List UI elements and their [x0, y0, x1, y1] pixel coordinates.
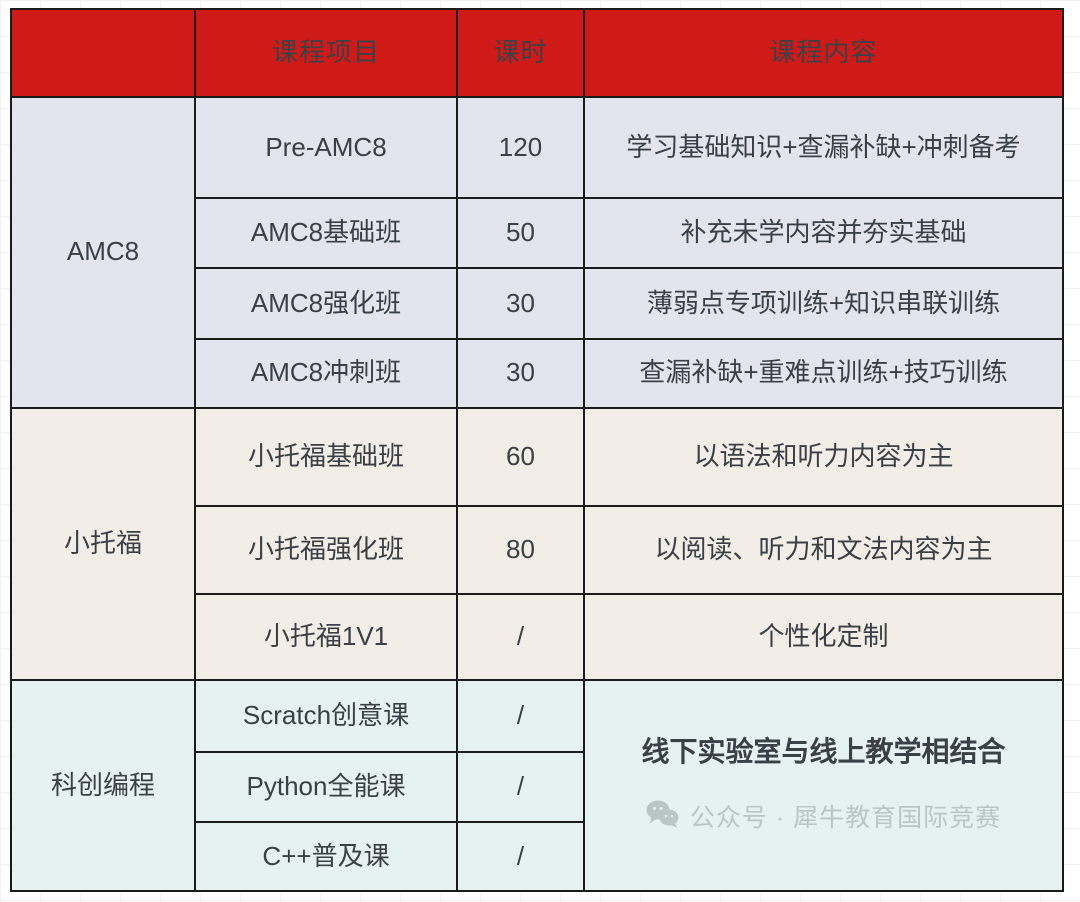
category-cell-toefl: 小托福	[11, 408, 195, 680]
content-stack: 线下实验室与线上教学相结合	[585, 681, 1062, 890]
hours-cell: 80	[457, 506, 584, 595]
course-schedule-table: 课程项目 课时 课程内容 AMC8 Pre-AMC8 120 学习基础知识+查漏…	[10, 8, 1064, 892]
table-body: AMC8 Pre-AMC8 120 学习基础知识+查漏补缺+冲刺备考 AMC8基…	[11, 97, 1063, 891]
content-cell: 查漏补缺+重难点训练+技巧训练	[584, 339, 1063, 408]
hours-cell: 120	[457, 97, 584, 198]
hours-cell: 30	[457, 339, 584, 408]
table-row: AMC8 Pre-AMC8 120 学习基础知识+查漏补缺+冲刺备考	[11, 97, 1063, 198]
hours-cell: 50	[457, 198, 584, 269]
hours-cell: 30	[457, 268, 584, 339]
content-cell: 以阅读、听力和文法内容为主	[584, 506, 1063, 595]
hours-cell: /	[457, 680, 584, 752]
program-cell: AMC8基础班	[195, 198, 457, 269]
hours-cell: /	[457, 594, 584, 680]
program-cell: 小托福强化班	[195, 506, 457, 595]
program-cell: 小托福1V1	[195, 594, 457, 680]
program-cell: Python全能课	[195, 752, 457, 823]
content-cell: 学习基础知识+查漏补缺+冲刺备考	[584, 97, 1063, 198]
category-cell-code: 科创编程	[11, 680, 195, 891]
program-cell: 小托福基础班	[195, 408, 457, 506]
hours-cell: 60	[457, 408, 584, 506]
table-header: 课程项目 课时 课程内容	[11, 9, 1063, 97]
table-row: 小托福 小托福基础班 60 以语法和听力内容为主	[11, 408, 1063, 506]
course-table-container: 课程项目 课时 课程内容 AMC8 Pre-AMC8 120 学习基础知识+查漏…	[10, 8, 1062, 892]
program-cell: Pre-AMC8	[195, 97, 457, 198]
program-cell: C++普及课	[195, 822, 457, 891]
content-cell: 以语法和听力内容为主	[584, 408, 1063, 506]
hours-cell: /	[457, 822, 584, 891]
content-cell: 薄弱点专项训练+知识串联训练	[584, 268, 1063, 339]
table-row: 科创编程 Scratch创意课 / 线下实验室与线上教学相结合	[11, 680, 1063, 752]
header-row: 课程项目 课时 课程内容	[11, 9, 1063, 97]
category-cell-amc8: AMC8	[11, 97, 195, 408]
content-cell-merged: 线下实验室与线上教学相结合	[584, 680, 1063, 891]
header-category	[11, 9, 195, 97]
header-program: 课程项目	[195, 9, 457, 97]
header-hours: 课时	[457, 9, 584, 97]
content-cell: 个性化定制	[584, 594, 1063, 680]
content-cell: 补充未学内容并夯实基础	[584, 198, 1063, 269]
header-content: 课程内容	[584, 9, 1063, 97]
wechat-icon	[646, 800, 680, 837]
hours-cell: /	[457, 752, 584, 823]
program-cell: Scratch创意课	[195, 680, 457, 752]
watermark: 公众号 · 犀牛教育国际竞赛	[646, 800, 1001, 837]
program-cell: AMC8强化班	[195, 268, 457, 339]
watermark-text: 公众号 · 犀牛教育国际竞赛	[690, 802, 1001, 835]
program-cell: AMC8冲刺班	[195, 339, 457, 408]
merged-content-text: 线下实验室与线上教学相结合	[641, 734, 1005, 770]
